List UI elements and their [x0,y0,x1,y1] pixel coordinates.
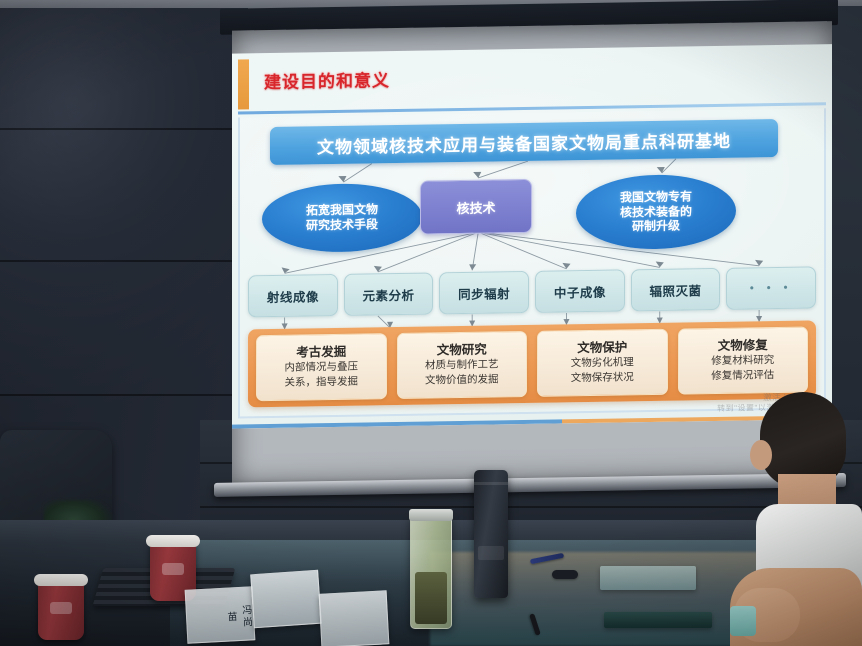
thermos-grip [478,546,504,560]
smartphone [730,606,756,636]
thermos-flask [474,470,508,598]
tech-node-element-analysis: 元素分析 [344,272,434,315]
diagram-area: 文物领域核技术应用与装备国家文物局重点科研基地 拓宽我国文物 研究技术手段 核技… [238,108,826,418]
thermos-band [474,482,508,485]
application-title: 文物修复 [718,338,768,354]
paper-cup [38,580,84,640]
notebook [600,566,696,590]
name-plate-text [252,583,320,622]
tech-node-irradiation-sterilization: 辐照灭菌 [631,268,721,311]
cup-lid [146,535,200,547]
name-plate-text: 冯尚苗 [186,599,254,636]
cup-logo [50,602,72,614]
application-card-relic-restoration: 文物修复 修复材料研究 修复情况评估 [678,327,809,395]
goal-node-left: 拓宽我国文物 研究技术手段 [262,183,422,254]
application-title: 文物研究 [437,342,487,358]
cup-lid [34,574,88,586]
application-line2: 文物保存状况 [571,371,634,386]
application-title: 考古发掘 [296,344,346,360]
tea-jar [410,515,452,629]
tech-label: 射线成像 [267,286,319,306]
tech-label: • • • [750,282,793,295]
jar-cap [409,509,453,521]
tech-node-neutron-imaging: 中子成像 [535,269,625,312]
tech-label: 同步辐射 [458,283,510,303]
center-node-text: 核技术 [456,197,495,217]
tech-node-ray-imaging: 射线成像 [248,274,338,317]
presentation-slide: 建设目的和意义 [232,44,832,428]
application-line1: 内部情况与叠压 [285,361,359,376]
application-title: 文物保护 [577,340,627,356]
application-line1: 材质与制作工艺 [425,359,499,374]
cup-logo [162,563,184,575]
name-plate [319,590,390,646]
tea-leaves [415,572,447,624]
base-title-banner: 文物领域核技术应用与装备国家文物局重点科研基地 [270,119,778,165]
goal-right-text: 我国文物专有 核技术装备的 研制升级 [620,189,692,234]
seated-attendee [730,392,862,646]
slide-footer-blue [232,419,562,428]
attendee-ear [750,440,772,470]
name-plate: 冯尚苗 [185,586,256,643]
title-accent-bar [238,59,249,109]
application-card-relic-protection: 文物保护 文物劣化机理 文物保存状况 [537,329,668,397]
name-plate-text [320,603,388,640]
slide-section-title: 建设目的和意义 [264,66,390,93]
meeting-room-photo: 建设目的和意义 [0,0,862,646]
application-card-relic-research: 文物研究 材质与制作工艺 文物价值的发掘 [397,331,528,399]
application-line2: 修复情况评估 [711,369,774,384]
name-plate [250,570,322,629]
base-title-text: 文物领域核技术应用与装备国家文物局重点科研基地 [317,126,731,158]
goal-left-text: 拓宽我国文物 研究技术手段 [306,203,378,233]
slide-header: 建设目的和意义 [256,50,826,109]
application-card-archaeology: 考古发掘 内部情况与叠压 关系，指导发掘 [256,333,387,401]
technology-row: 射线成像 元素分析 同步辐射 中子成像 辐照灭菌 [248,266,816,317]
eyeglasses [552,570,578,579]
application-line1: 文物劣化机理 [571,356,634,371]
application-line2: 文物价值的发掘 [425,373,499,388]
application-line2: 关系，指导发掘 [285,375,359,390]
tech-label: 元素分析 [363,284,415,304]
tech-label: 辐照灭菌 [650,280,702,300]
notebook [604,612,712,628]
goal-node-right: 我国文物专有 核技术装备的 研制升级 [576,174,736,251]
tech-node-synchrotron-radiation: 同步辐射 [439,271,529,314]
center-node-nuclear-tech: 核技术 [420,179,532,235]
tech-node-ellipsis: • • • [726,266,816,309]
application-line1: 修复材料研究 [711,354,774,369]
tech-label: 中子成像 [554,281,606,301]
